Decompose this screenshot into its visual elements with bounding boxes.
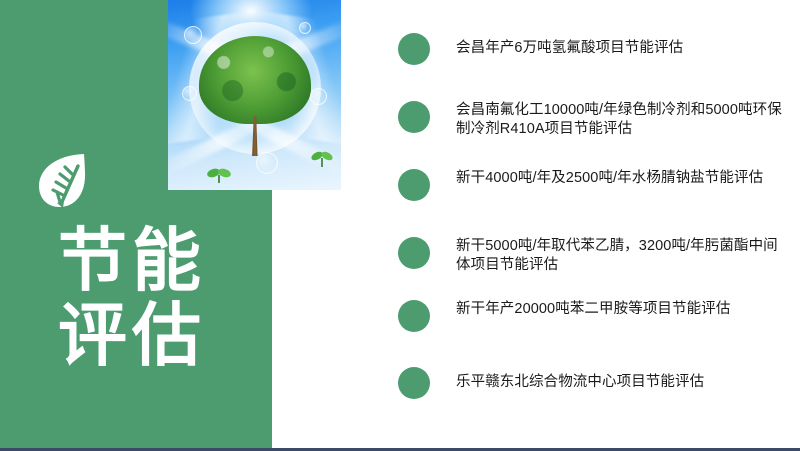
bullet-dot-icon [398, 169, 430, 201]
list-item[interactable]: 新干年产20000吨苯二甲胺等项目节能评估 [398, 300, 784, 332]
sprout-icon [206, 164, 232, 184]
list-item-label: 会昌年产6万吨氢氟酸项目节能评估 [456, 33, 784, 58]
slide-root: 节能 评估 [0, 0, 800, 451]
bubble-icon [184, 26, 202, 44]
bubble-icon [256, 152, 278, 174]
bullet-dot-icon [398, 101, 430, 133]
bullet-dot-icon [398, 367, 430, 399]
list-item[interactable]: 会昌南氟化工10000吨/年绿色制冷剂和5000吨环保制冷剂R410A项目节能评… [398, 101, 784, 139]
list-item-label: 新干5000吨/年取代苯乙腈，3200吨/年肟菌酯中间体项目节能评估 [456, 237, 784, 275]
list-item-label: 新干年产20000吨苯二甲胺等项目节能评估 [456, 300, 784, 319]
list-item[interactable]: 乐平赣东北综合物流中心项目节能评估 [398, 367, 784, 399]
leaf-icon [36, 152, 88, 212]
tree-in-bubble-image [168, 0, 341, 190]
bubble-icon [310, 88, 327, 105]
list-item-label: 会昌南氟化工10000吨/年绿色制冷剂和5000吨环保制冷剂R410A项目节能评… [456, 101, 784, 139]
bubble-icon [299, 22, 311, 34]
page-title: 节能 评估 [58, 222, 273, 375]
list-item-label: 新干4000吨/年及2500吨/年水杨腈钠盐节能评估 [456, 169, 784, 188]
list-item-label: 乐平赣东北综合物流中心项目节能评估 [456, 367, 784, 392]
list-item[interactable]: 会昌年产6万吨氢氟酸项目节能评估 [398, 33, 784, 65]
bullet-dot-icon [398, 33, 430, 65]
list-item[interactable]: 新干5000吨/年取代苯乙腈，3200吨/年肟菌酯中间体项目节能评估 [398, 237, 784, 275]
bullet-dot-icon [398, 237, 430, 269]
bubble-icon [182, 86, 197, 101]
bullet-dot-icon [398, 300, 430, 332]
page-title-line-1: 节能 [58, 222, 273, 299]
project-list: 会昌年产6万吨氢氟酸项目节能评估 会昌南氟化工10000吨/年绿色制冷剂和500… [398, 0, 784, 451]
sprout-icon [309, 148, 335, 168]
page-title-line-2: 评估 [58, 297, 273, 374]
list-item[interactable]: 新干4000吨/年及2500吨/年水杨腈钠盐节能评估 [398, 169, 784, 201]
tree-canopy [199, 36, 311, 124]
